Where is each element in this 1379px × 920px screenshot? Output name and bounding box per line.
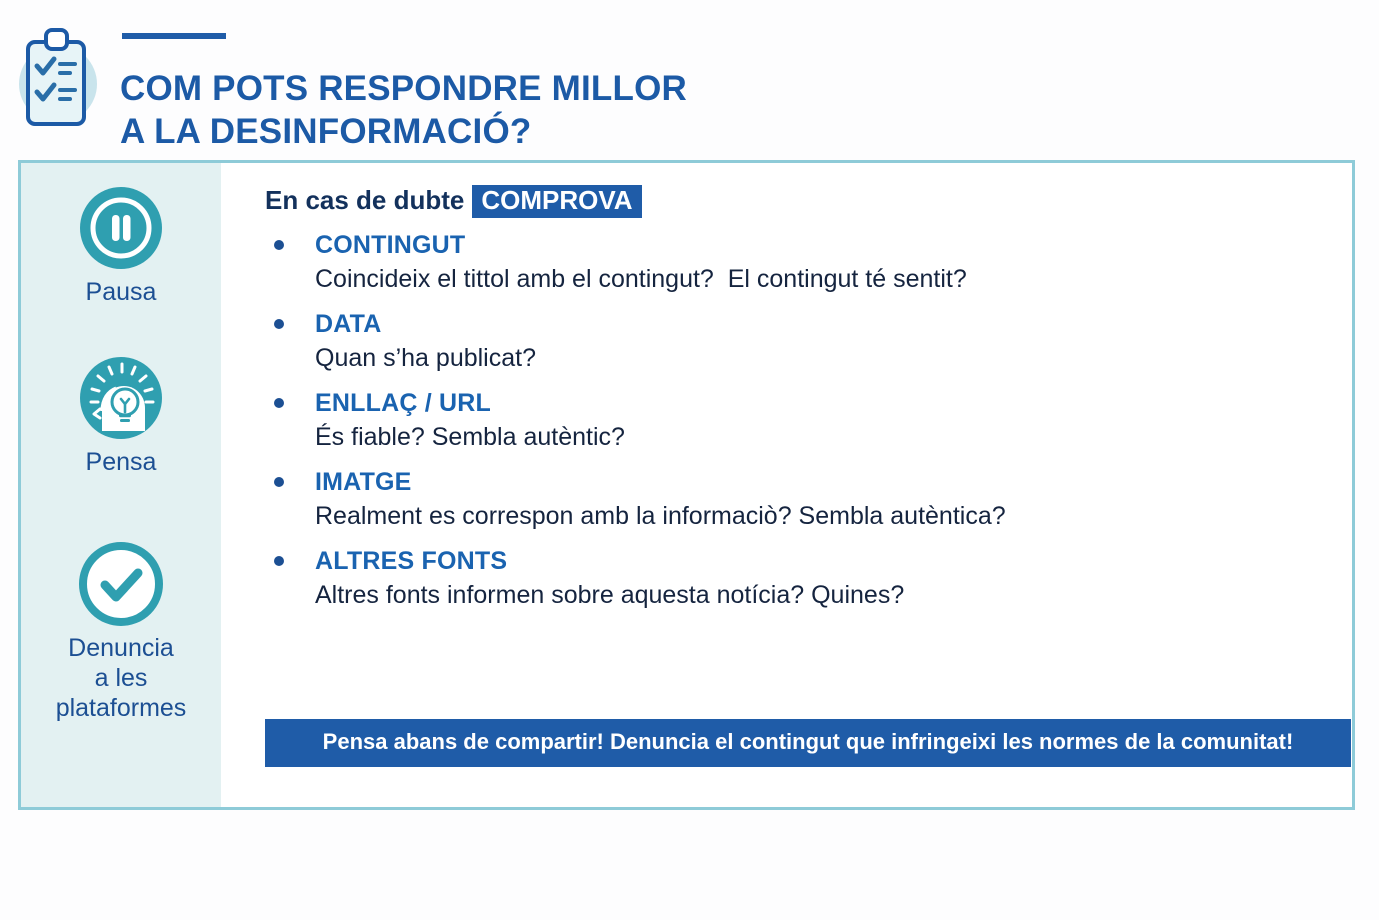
checklist: CONTINGUT Coincideix el tittol amb el co…: [265, 229, 1325, 624]
list-item: IMATGE Realment es correspon amb la info…: [265, 466, 1325, 533]
checklist-term: ENLLAÇ / URL: [315, 387, 1325, 420]
page-title-line-1: COM POTS RESPONDRE MILLOR: [120, 67, 1220, 110]
steps-sidebar: Pausa: [21, 163, 221, 807]
sidebar-item-denuncia[interactable]: Denuncia a les plataformes: [21, 541, 221, 723]
sidebar-label-pensa: Pensa: [21, 447, 221, 477]
list-item: DATA Quan s’ha publicat?: [265, 308, 1325, 375]
checklist-term: DATA: [315, 308, 1325, 341]
sidebar-label-pausa: Pausa: [21, 277, 221, 307]
check-circle-icon: [78, 541, 164, 627]
checklist-description: Coincideix el tittol amb el contingut? E…: [315, 262, 1325, 296]
sidebar-item-pausa[interactable]: Pausa: [21, 185, 221, 307]
pause-icon: [78, 185, 164, 271]
checklist-term: ALTRES FONTS: [315, 545, 1325, 578]
checklist-term: CONTINGUT: [315, 229, 1325, 262]
list-item: ALTRES FONTS Altres fonts informen sobre…: [265, 545, 1325, 612]
list-item: ENLLAÇ / URL És fiable? Sembla autèntic?: [265, 387, 1325, 454]
bullet-dot-icon: [274, 556, 284, 566]
bullet-dot-icon: [274, 398, 284, 408]
bullet-dot-icon: [274, 240, 284, 250]
checklist-description: Altres fonts informen sobre aquesta notí…: [315, 578, 1325, 612]
checklist-description: Quan s’ha publicat?: [315, 341, 1325, 375]
checklist-description: És fiable? Sembla autèntic?: [315, 420, 1325, 454]
list-item: CONTINGUT Coincideix el tittol amb el co…: [265, 229, 1325, 296]
page-title: COM POTS RESPONDRE MILLOR A LA DESINFORM…: [120, 67, 1220, 153]
content-panel: Pausa: [18, 160, 1355, 810]
call-to-action-banner: Pensa abans de compartir! Denuncia el co…: [265, 719, 1351, 767]
sidebar-label-denuncia: Denuncia a les plataformes: [21, 633, 221, 723]
sidebar-item-pensa[interactable]: Pensa: [21, 355, 221, 477]
comprova-highlight-badge: COMPROVA: [472, 185, 641, 218]
bullet-dot-icon: [274, 319, 284, 329]
think-lightbulb-head-icon: [78, 355, 164, 441]
title-underline-rule: [122, 33, 226, 39]
subheading-text: En cas de dubte: [265, 185, 464, 215]
main-content: En cas de dubteCOMPROVA CONTINGUT Coinci…: [221, 163, 1352, 807]
checklist-term: IMATGE: [315, 466, 1325, 499]
page-title-line-2: A LA DESINFORMACIÓ?: [120, 110, 1220, 153]
clipboard-checklist-icon: [10, 20, 102, 138]
page-header: COM POTS RESPONDRE MILLOR A LA DESINFORM…: [0, 0, 1379, 152]
checklist-description: Realment es correspon amb la informaciò?…: [315, 499, 1325, 533]
bullet-dot-icon: [274, 477, 284, 487]
subheading: En cas de dubteCOMPROVA: [265, 185, 642, 218]
